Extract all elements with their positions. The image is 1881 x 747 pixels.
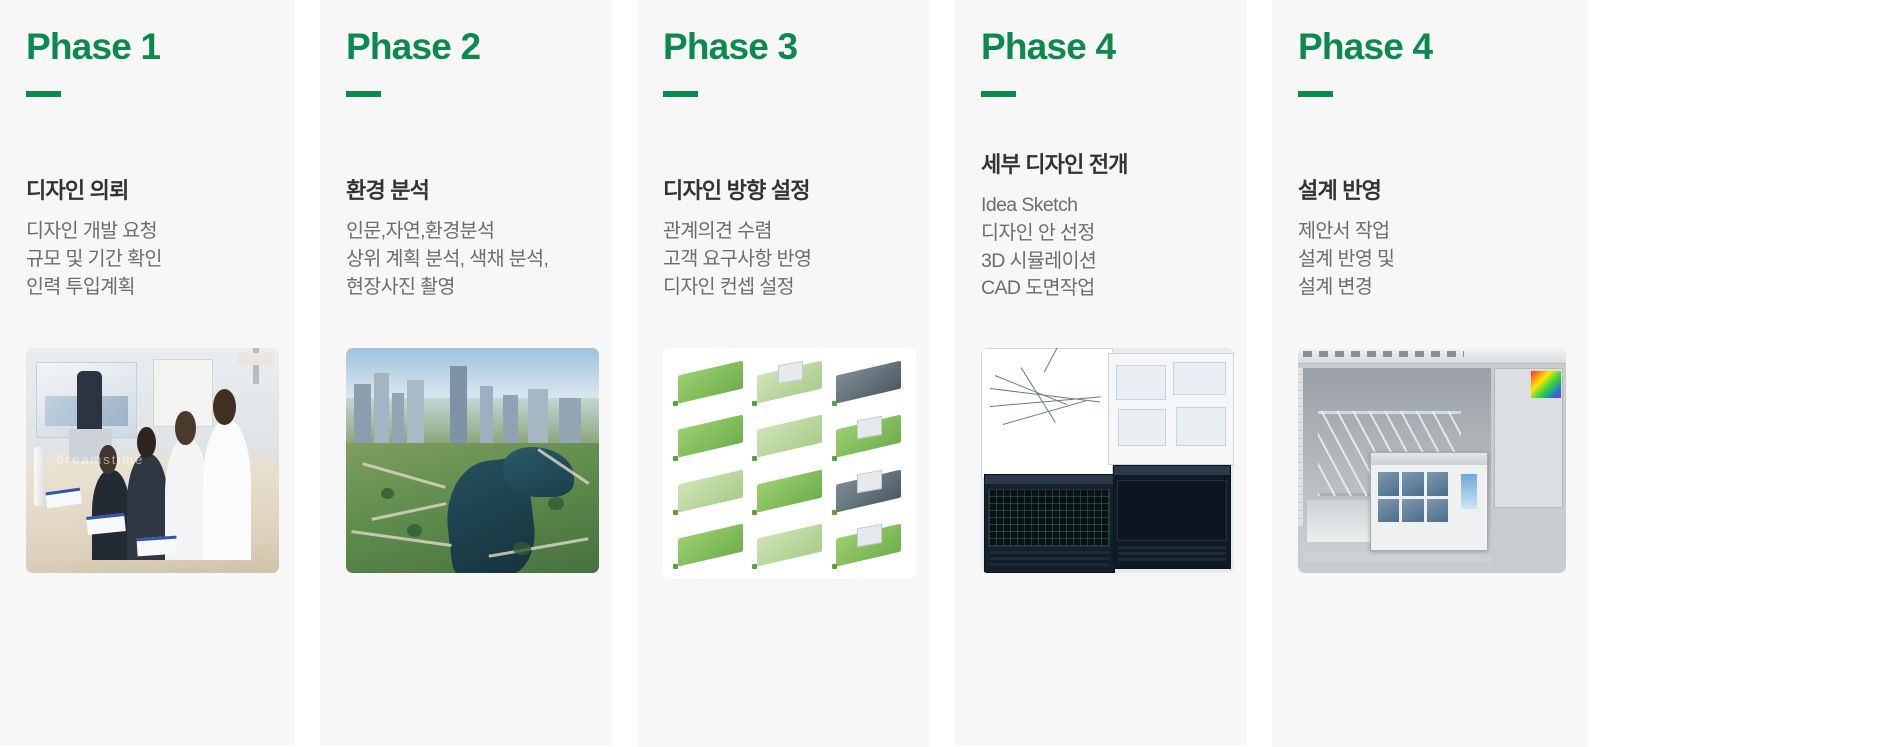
building-shape xyxy=(528,389,548,448)
dialog-thumb[interactable] xyxy=(1378,472,1399,496)
document-shape xyxy=(86,513,126,535)
phase-line: 현장사진 촬영 xyxy=(346,274,598,302)
phase-label-5: Phase 4 xyxy=(1298,28,1570,65)
dialog-thumb[interactable] xyxy=(1427,499,1448,523)
building-shape xyxy=(374,373,389,450)
phase-card-3-inner: Phase 3 디자인 방향 설정 관계의견 수렴 고객 요구사항 반영 디자인… xyxy=(637,0,930,747)
dialog-thumb[interactable] xyxy=(1402,499,1423,523)
phase-lines-1: 디자인 개발 요청 규모 및 기간 확인 인력 투입계획 xyxy=(26,218,281,301)
phase-line: Idea Sketch xyxy=(981,192,1233,220)
tree-shape xyxy=(513,542,531,556)
phase-body-5: 설계 반영 제안서 작업 설계 반영 및 설계 변경 xyxy=(1298,178,1574,301)
diagram-cell xyxy=(673,357,747,406)
cad-sketch-sheet xyxy=(981,348,1113,479)
phase-line: 규모 및 기간 확인 xyxy=(26,246,281,274)
lamp-icon xyxy=(253,348,259,384)
diagram-cell xyxy=(832,520,906,569)
phase-card-1-inner: Phase 1 디자인 의뢰 디자인 개발 요청 규모 및 기간 확인 인력 투… xyxy=(0,0,295,745)
phase-line: 인력 투입계획 xyxy=(26,274,281,302)
bullet-icon xyxy=(752,456,757,461)
accent-rule-3 xyxy=(663,91,698,97)
photo-watermark: dreamstime xyxy=(56,452,144,467)
phase-body-1: 디자인 의뢰 디자인 개발 요청 규모 및 기간 확인 인력 투입계획 xyxy=(26,178,281,301)
phase-subtitle-3: 디자인 방향 설정 xyxy=(663,178,916,204)
phase-line: 디자인 안 선정 xyxy=(981,220,1233,248)
phase-subtitle-5: 설계 반영 xyxy=(1298,178,1574,204)
column-gap-1 xyxy=(295,0,320,747)
viewport-grid xyxy=(989,490,1109,546)
accent-rule-4 xyxy=(981,91,1016,97)
phase-line: 설계 반영 및 xyxy=(1298,246,1574,274)
building-shape xyxy=(450,366,468,447)
diagram-cell xyxy=(752,520,826,569)
bullet-icon xyxy=(673,510,678,515)
column-gap-4 xyxy=(1247,0,1272,747)
iso-plate xyxy=(678,415,743,458)
tree-shape xyxy=(407,524,422,538)
phase-lines-5: 제안서 작업 설계 반영 및 설계 변경 xyxy=(1298,218,1574,301)
building-shape xyxy=(559,398,582,448)
presenter-figure xyxy=(77,371,102,439)
iso-plate xyxy=(678,469,743,512)
wireframe-line xyxy=(1044,348,1073,373)
iso-plate xyxy=(757,415,822,458)
sketch-thumb xyxy=(1173,362,1225,395)
file-browser-dialog[interactable] xyxy=(1370,452,1488,551)
phase-card-1[interactable]: Phase 1 디자인 의뢰 디자인 개발 요청 규모 및 기간 확인 인력 투… xyxy=(0,0,295,745)
app-titlebar xyxy=(985,475,1115,484)
iso-plate xyxy=(678,524,743,567)
phase-line: 제안서 작업 xyxy=(1298,218,1574,246)
phase-body-2: 환경 분석 인문,자연,환경분석 상위 계획 분석, 색채 분석, 현장사진 촬… xyxy=(346,178,598,301)
building-shape xyxy=(480,386,493,445)
accent-rule-1 xyxy=(26,91,61,97)
phase-card-5-inner: Phase 4 설계 반영 제안서 작업 설계 반영 및 설계 변경 xyxy=(1272,0,1588,747)
phase-subtitle-1: 디자인 의뢰 xyxy=(26,178,281,204)
diagram-cell xyxy=(673,466,747,515)
building-shape xyxy=(392,393,405,447)
column-gap-2 xyxy=(612,0,637,747)
accent-rule-2 xyxy=(346,91,381,97)
diagram-cell xyxy=(832,357,906,406)
cad-app-window xyxy=(984,474,1116,573)
phase-lines-4: Idea Sketch 디자인 안 선정 3D 시뮬레이션 CAD 도면작업 xyxy=(981,192,1233,303)
timeline-rows xyxy=(1118,545,1226,561)
document-shape xyxy=(137,536,179,557)
building-shape xyxy=(354,384,372,447)
phase-thumbnail-2[interactable] xyxy=(346,348,599,573)
attendee-figure xyxy=(203,420,251,560)
phase-line: 디자인 개발 요청 xyxy=(26,218,281,246)
phase-line: CAD 도면작업 xyxy=(981,275,1233,303)
phase-line: 상위 계획 분석, 색채 분석, xyxy=(346,246,598,274)
iso-plate xyxy=(757,524,822,567)
diagram-cell xyxy=(752,412,826,461)
phase-lines-2: 인문,자연,환경분석 상위 계획 분석, 색채 분석, 현장사진 촬영 xyxy=(346,218,598,301)
cad-viewport xyxy=(988,489,1110,547)
diagram-cell xyxy=(832,412,906,461)
phase-subtitle-4: 세부 디자인 전개 xyxy=(981,152,1233,178)
diagram-grid xyxy=(673,357,906,570)
phase-card-2-inner: Phase 2 환경 분석 인문,자연,환경분석 상위 계획 분석, 색채 분석… xyxy=(320,0,612,745)
bullet-icon xyxy=(752,510,757,515)
phase-card-4-inner: Phase 4 세부 디자인 전개 Idea Sketch 디자인 안 선정 3… xyxy=(955,0,1247,745)
diagram-cell xyxy=(752,466,826,515)
cad-render-sheet xyxy=(1108,353,1235,466)
bullet-icon xyxy=(673,401,678,406)
phase-thumbnail-4[interactable] xyxy=(981,348,1234,573)
iso-plate xyxy=(836,361,901,404)
sketch-thumb xyxy=(1118,409,1165,447)
phase-body-4: 세부 디자인 전개 Idea Sketch 디자인 안 선정 3D 시뮬레이션 … xyxy=(981,152,1233,303)
bullet-icon xyxy=(752,401,757,406)
cad-viewport xyxy=(1117,480,1227,541)
diagram-cell xyxy=(673,412,747,461)
timeline-rows xyxy=(990,551,1109,567)
phase-card-4[interactable]: Phase 4 세부 디자인 전개 Idea Sketch 디자인 안 선정 3… xyxy=(955,0,1247,745)
phase-card-3[interactable]: Phase 3 디자인 방향 설정 관계의견 수렴 고객 요구사항 반영 디자인… xyxy=(637,0,930,747)
phase-label-2: Phase 2 xyxy=(346,28,594,65)
tree-shape xyxy=(548,497,563,511)
bullet-icon xyxy=(832,456,837,461)
phase-lines-3: 관계의견 수렴 고객 요구사항 반영 디자인 컨셉 설정 xyxy=(663,218,916,301)
water-bottle-shape xyxy=(34,447,47,506)
phase-line: 인문,자연,환경분석 xyxy=(346,218,598,246)
app-menubar xyxy=(1303,351,1464,356)
right-filler xyxy=(1588,0,1881,747)
bullet-icon xyxy=(832,510,837,515)
diagram-cell xyxy=(673,520,747,569)
dialog-thumb[interactable] xyxy=(1378,499,1399,523)
phase-subtitle-2: 환경 분석 xyxy=(346,178,598,204)
phase-line: 관계의견 수렴 xyxy=(663,218,916,246)
building-shape xyxy=(503,395,518,447)
column-gap-3 xyxy=(930,0,955,747)
accent-rule-5 xyxy=(1298,91,1333,97)
diagram-cell xyxy=(752,357,826,406)
building-shape xyxy=(407,380,425,448)
phase-body-3: 디자인 방향 설정 관계의견 수렴 고객 요구사항 반영 디자인 컨셉 설정 xyxy=(663,178,916,301)
phase-line: 설계 변경 xyxy=(1298,274,1574,302)
iso-plate xyxy=(757,469,822,512)
phase-thumbnail-3[interactable] xyxy=(663,348,916,579)
tree-shape xyxy=(381,488,394,499)
phase-label-3: Phase 3 xyxy=(663,28,912,65)
bullet-icon xyxy=(673,456,678,461)
sketch-thumb xyxy=(1176,407,1226,447)
bullet-icon xyxy=(832,401,837,406)
phase-timeline-board: Phase 1 디자인 의뢰 디자인 개발 요청 규모 및 기간 확인 인력 투… xyxy=(0,0,1881,747)
iso-building xyxy=(857,415,882,438)
dialog-thumbnail-grid xyxy=(1378,472,1448,522)
phase-label-1: Phase 1 xyxy=(26,28,277,65)
phase-card-2[interactable]: Phase 2 환경 분석 인문,자연,환경분석 상위 계획 분석, 색채 분석… xyxy=(320,0,612,745)
bullet-icon xyxy=(752,564,757,569)
phase-line: 디자인 컨셉 설정 xyxy=(663,274,916,302)
cad-app-window xyxy=(1113,465,1232,569)
phase-card-5[interactable]: Phase 4 설계 반영 제안서 작업 설계 반영 및 설계 변경 xyxy=(1272,0,1588,747)
diagram-cell xyxy=(832,466,906,515)
color-picker-swatch[interactable] xyxy=(1531,371,1560,398)
iso-plate xyxy=(678,361,743,404)
app-titlebar xyxy=(1114,466,1231,475)
dialog-thumb[interactable] xyxy=(1427,472,1448,496)
phase-thumbnail-1[interactable]: dreamstime xyxy=(26,348,279,573)
dialog-titlebar xyxy=(1371,453,1487,466)
attendee-head xyxy=(213,389,236,425)
bullet-icon xyxy=(832,564,837,569)
phase-label-4: Phase 4 xyxy=(981,28,1229,65)
phase-line: 3D 시뮬레이션 xyxy=(981,248,1233,276)
sketch-thumb xyxy=(1116,365,1166,400)
dialog-thumb[interactable] xyxy=(1402,472,1423,496)
attendee-head xyxy=(175,411,195,445)
phase-thumbnail-5[interactable] xyxy=(1298,348,1566,573)
dialog-preview-image xyxy=(1461,474,1477,509)
phase-line: 고객 요구사항 반영 xyxy=(663,246,916,274)
bullet-icon xyxy=(673,564,678,569)
